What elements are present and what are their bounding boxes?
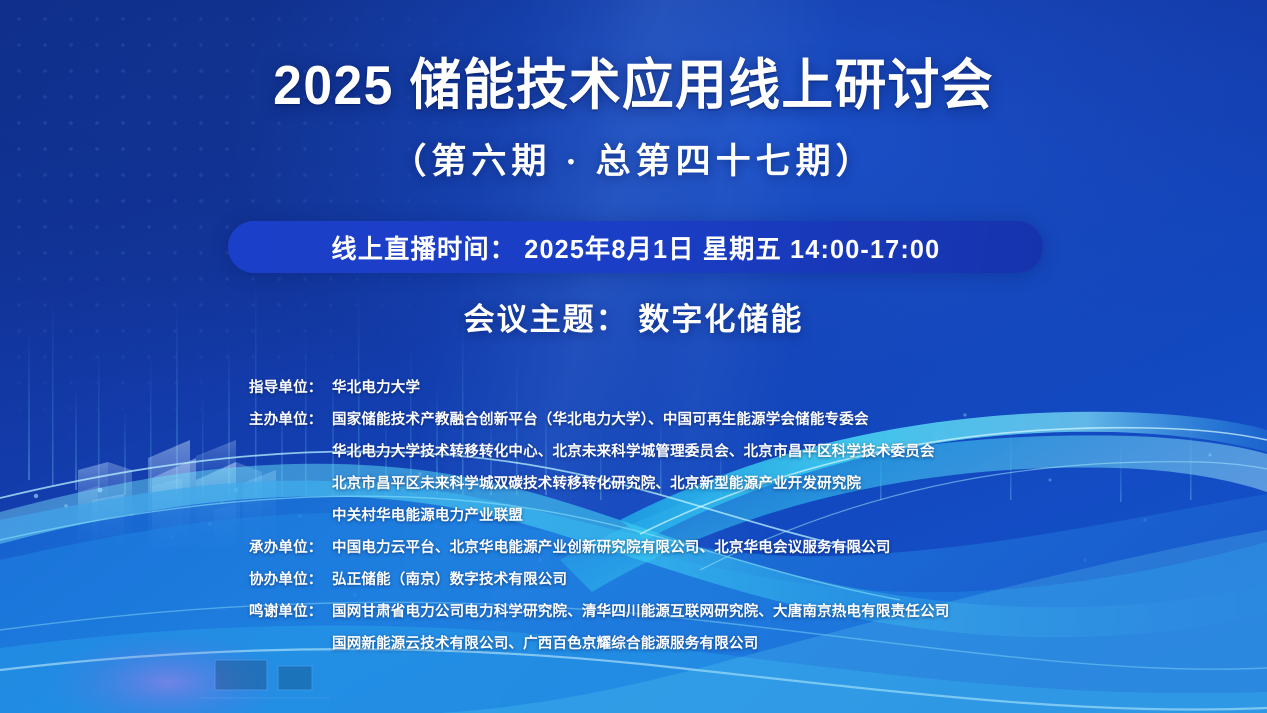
organization-label: 指导单位：: [249, 372, 332, 404]
organization-value: 国网甘肃省电力公司电力科学研究院、清华四川能源互联网研究院、大唐南京热电有限责任…: [332, 596, 949, 628]
organization-row: 鸣谢单位：国网新能源云技术有限公司、广西百色京耀综合能源服务有限公司: [249, 628, 1209, 660]
live-time-banner: 线上直播时间： 2025年8月1日 星期五 14:00-17:00: [228, 221, 1043, 273]
organization-label: 鸣谢单位：: [249, 596, 332, 628]
organization-row: 主办单位：华北电力大学技术转移转化中心、北京未来科学城管理委员会、北京市昌平区科…: [249, 436, 1209, 468]
organization-value: 华北电力大学: [332, 372, 420, 404]
live-time-text: 线上直播时间： 2025年8月1日 星期五 14:00-17:00: [331, 229, 940, 266]
organization-value: 北京市昌平区未来科学城双碳技术转移转化研究院、北京新型能源产业开发研究院: [332, 468, 861, 500]
conference-theme: 会议主题： 数字化储能: [0, 300, 1267, 340]
organization-value: 国家储能技术产教融合创新平台（华北电力大学）、中国可再生能源学会储能专委会: [332, 404, 869, 436]
organization-row: 鸣谢单位：国网甘肃省电力公司电力科学研究院、清华四川能源互联网研究院、大唐南京热…: [249, 596, 1209, 628]
organization-row: 承办单位：中国电力云平台、北京华电能源产业创新研究院有限公司、北京华电会议服务有…: [249, 532, 1209, 564]
webinar-poster: 2025 储能技术应用线上研讨会 （第六期 · 总第四十七期） 线上直播时间： …: [0, 0, 1267, 713]
organization-row: 主办单位：国家储能技术产教融合创新平台（华北电力大学）、中国可再生能源学会储能专…: [249, 404, 1209, 436]
organization-row: 主办单位：中关村华电能源电力产业联盟: [249, 500, 1209, 532]
organization-label: 协办单位：: [249, 564, 332, 596]
organization-label: 承办单位：: [249, 532, 332, 564]
organization-label: 主办单位：: [249, 404, 332, 436]
page-title: 2025 储能技术应用线上研讨会: [38, 52, 1229, 118]
organization-value: 华北电力大学技术转移转化中心、北京未来科学城管理委员会、北京市昌平区科学技术委员…: [332, 436, 935, 468]
organization-value: 中国电力云平台、北京华电能源产业创新研究院有限公司、北京华电会议服务有限公司: [332, 532, 891, 564]
organization-value: 国网新能源云技术有限公司、广西百色京耀综合能源服务有限公司: [332, 628, 758, 660]
organization-row: 协办单位：弘正储能（南京）数字技术有限公司: [249, 564, 1209, 596]
organization-list: 指导单位：华北电力大学主办单位：国家储能技术产教融合创新平台（华北电力大学）、中…: [249, 372, 1209, 660]
organization-row: 指导单位：华北电力大学: [249, 372, 1209, 404]
organization-value: 弘正储能（南京）数字技术有限公司: [332, 564, 567, 596]
page-subtitle: （第六期 · 总第四十七期）: [0, 140, 1267, 184]
organization-row: 主办单位：北京市昌平区未来科学城双碳技术转移转化研究院、北京新型能源产业开发研究…: [249, 468, 1209, 500]
organization-value: 中关村华电能源电力产业联盟: [332, 500, 523, 532]
